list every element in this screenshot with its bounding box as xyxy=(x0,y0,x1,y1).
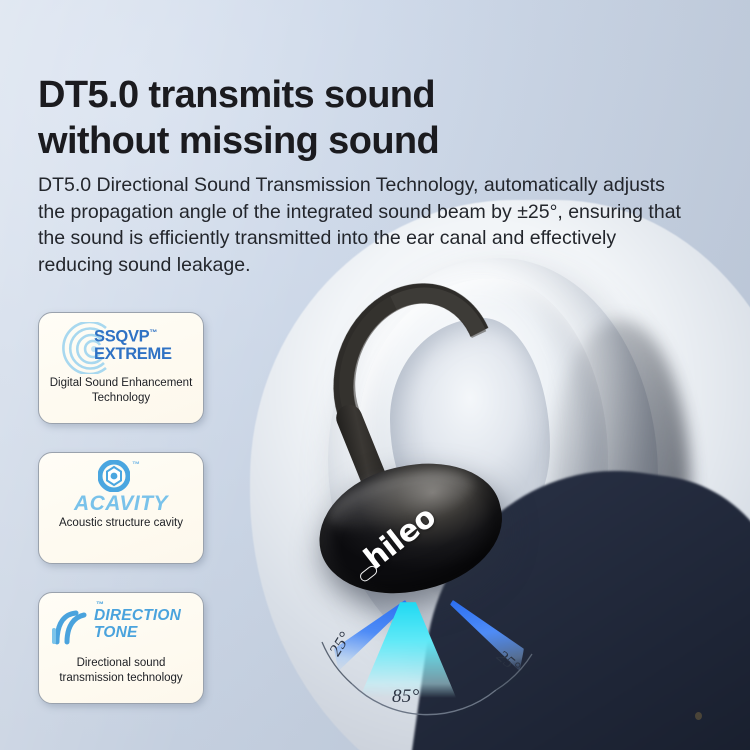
acavity-logo: ™ ACAVITY xyxy=(46,460,196,516)
description-paragraph: DT5.0 Directional Sound Transmission Tec… xyxy=(38,172,688,278)
skin-mole xyxy=(695,712,702,720)
headline-line-1: DT5.0 transmits sound xyxy=(38,72,678,118)
trademark-icon: ™ xyxy=(149,328,157,337)
feature-caption: Digital Sound Enhancement Technology xyxy=(46,376,196,405)
product-feature-image: hileo 25° 85° 25° DT5.0 transmits sound … xyxy=(0,0,750,750)
ssqvp-wordmark: SSQVP™ EXTREME xyxy=(94,324,172,363)
trademark-icon: ™ xyxy=(132,460,140,469)
ssqvp-line-1: SSQVP xyxy=(94,328,149,346)
sound-beam-diagram: 25° 85° 25° xyxy=(300,598,560,718)
feature-caption: Acoustic structure cavity xyxy=(46,516,196,531)
ssqvp-logo: SSQVP™ EXTREME xyxy=(46,320,196,376)
feature-card-direction-tone: ™ DIRECTION TONE Directional sound trans… xyxy=(38,592,204,704)
dt-line-1: DIRECTION xyxy=(94,607,181,624)
feature-caption: Directional sound transmission technolog… xyxy=(46,656,196,685)
feature-card-list: SSQVP™ EXTREME Digital Sound Enhancement… xyxy=(38,312,204,732)
headline-line-2: without missing sound xyxy=(38,118,678,164)
dt-line-2: TONE xyxy=(94,624,181,641)
angle-label-center: 85° xyxy=(392,686,420,708)
direction-tone-logo: ™ DIRECTION TONE xyxy=(46,600,196,656)
ssqvp-line-2: EXTREME xyxy=(94,346,172,363)
direction-tone-wordmark: DIRECTION TONE xyxy=(94,607,181,641)
feature-card-ssqvp: SSQVP™ EXTREME Digital Sound Enhancement… xyxy=(38,312,204,424)
feature-card-acavity: ™ ACAVITY Acoustic structure cavity xyxy=(38,452,204,564)
hexagon-ring-icon xyxy=(98,460,130,492)
wave-swoosh-icon xyxy=(52,608,94,646)
led-slot-icon xyxy=(358,564,379,584)
acavity-wordmark: ACAVITY xyxy=(54,492,188,516)
page-title: DT5.0 transmits sound without missing so… xyxy=(38,72,678,164)
